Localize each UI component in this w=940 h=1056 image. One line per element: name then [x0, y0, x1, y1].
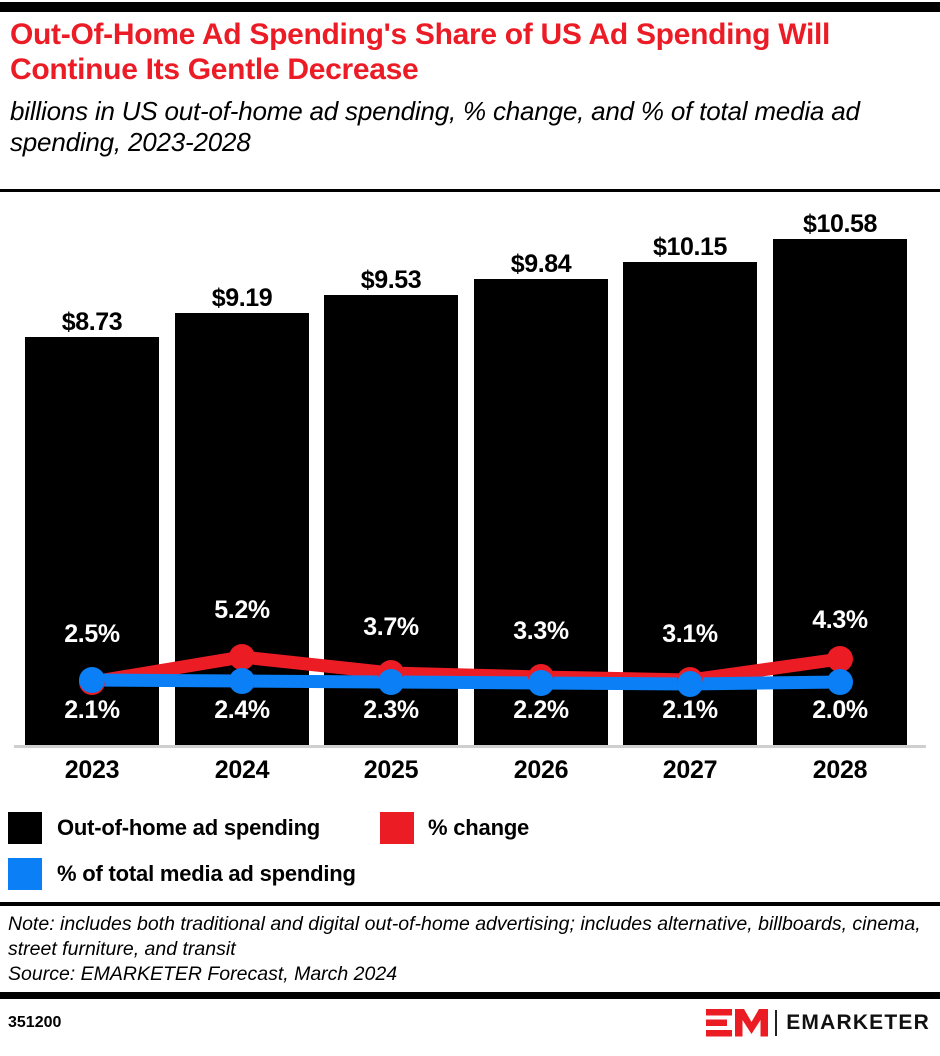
pct-share-label: 2.4% — [175, 696, 309, 725]
page-subtitle: billions in US out-of-home ad spending, … — [10, 96, 930, 158]
em-monogram-icon — [706, 1009, 768, 1037]
pct-change-label: 3.3% — [474, 617, 608, 646]
x-axis: 2023 2024 2025 2026 2027 2028 — [0, 756, 940, 790]
pct-change-label: 3.1% — [623, 620, 757, 649]
pct-change-label: 2.5% — [25, 620, 159, 649]
footer-divider-top — [0, 902, 940, 906]
line-pct-share — [92, 680, 840, 684]
footer-divider-bottom — [0, 992, 940, 999]
x-tick-2025: 2025 — [324, 756, 458, 785]
x-tick-2026: 2026 — [474, 756, 608, 785]
pct-share-label: 2.2% — [474, 696, 608, 725]
source-text: Source: EMARKETER Forecast, March 2024 — [8, 962, 928, 987]
page-title: Out-Of-Home Ad Spending's Share of US Ad… — [10, 18, 930, 88]
note-text: Note: includes both traditional and digi… — [8, 912, 928, 962]
chart-plot-area: $8.73 $9.19 $9.53 $9.84 $10.15 $10.58 2.… — [0, 196, 940, 752]
pct-change-label: 3.7% — [324, 613, 458, 642]
legend-label-pct-change: % change — [428, 812, 529, 844]
top-divider — [0, 2, 940, 12]
chart-header: Out-Of-Home Ad Spending's Share of US Ad… — [10, 18, 930, 158]
pct-share-label: 2.3% — [324, 696, 458, 725]
logo-divider — [775, 1010, 777, 1036]
x-tick-2023: 2023 — [25, 756, 159, 785]
footer-notes: Note: includes both traditional and digi… — [8, 912, 928, 986]
header-divider — [0, 189, 940, 192]
legend-swatch-pct-share — [8, 858, 42, 890]
x-tick-2027: 2027 — [623, 756, 757, 785]
line-series-overlay — [0, 196, 940, 752]
legend-swatch-out-of-home — [8, 812, 42, 844]
pct-share-label: 2.1% — [623, 696, 757, 725]
pct-share-label: 2.1% — [25, 696, 159, 725]
pct-share-label: 2.0% — [773, 696, 907, 725]
x-tick-2024: 2024 — [175, 756, 309, 785]
legend-swatch-pct-change — [380, 812, 414, 844]
chart-id: 351200 — [8, 1014, 61, 1032]
brand-wordmark: EMARKETER — [786, 1011, 930, 1035]
emarketer-logo: EMARKETER — [706, 1008, 930, 1038]
pct-change-label: 5.2% — [175, 596, 309, 625]
x-tick-2028: 2028 — [773, 756, 907, 785]
legend-label-pct-share: % of total media ad spending — [57, 858, 356, 890]
chart-legend: Out-of-home ad spending % change % of to… — [0, 806, 940, 896]
pct-change-label: 4.3% — [773, 606, 907, 635]
legend-label-out-of-home: Out-of-home ad spending — [57, 812, 320, 844]
